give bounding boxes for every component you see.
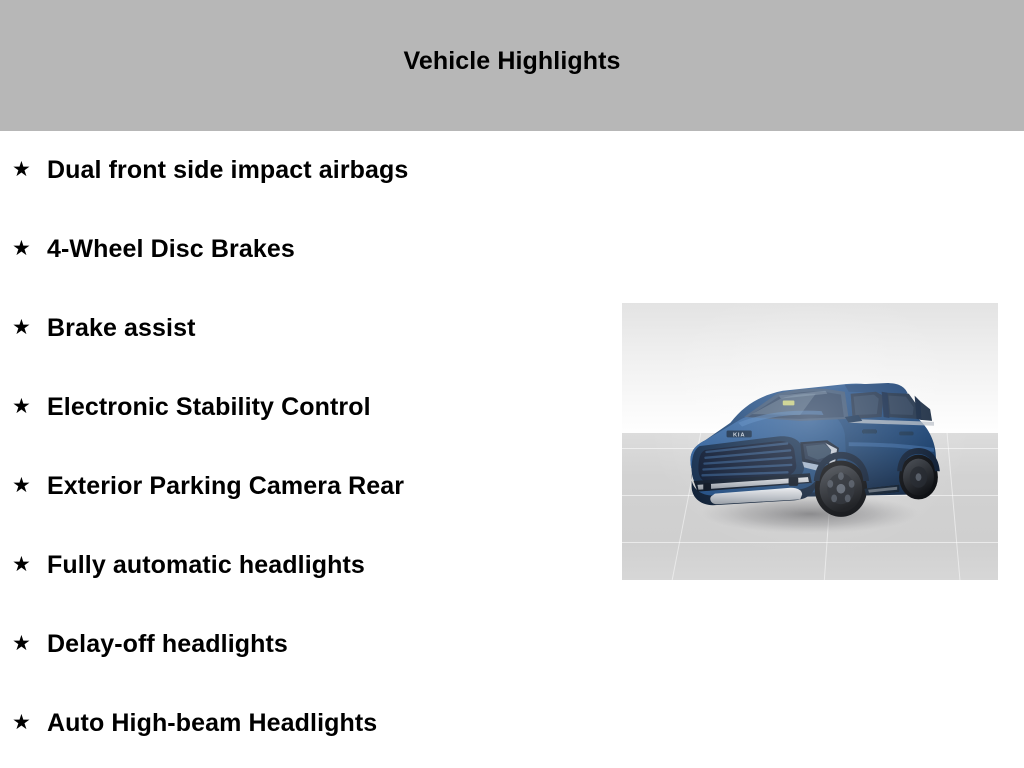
highlight-label: Fully automatic headlights — [47, 551, 365, 580]
vehicle-photo: KIA — [622, 303, 998, 580]
highlight-label: Brake assist — [47, 314, 196, 343]
list-item: ★ 4-Wheel Disc Brakes — [0, 210, 600, 289]
list-item: ★ Fully automatic headlights — [0, 526, 600, 605]
page-title: Vehicle Highlights — [403, 49, 620, 82]
vehicle-highlights-list: ★ Dual front side impact airbags ★ 4-Whe… — [0, 131, 600, 763]
list-item: ★ Auto High-beam Headlights — [0, 684, 600, 763]
star-bullet-icon: ★ — [12, 633, 36, 654]
suv-illustration: KIA — [652, 353, 968, 547]
highlight-label: Dual front side impact airbags — [47, 156, 408, 185]
star-bullet-icon: ★ — [12, 396, 36, 417]
highlight-label: Electronic Stability Control — [47, 393, 371, 422]
list-item: ★ Electronic Stability Control — [0, 368, 600, 447]
list-item: ★ Dual front side impact airbags — [0, 131, 600, 210]
star-bullet-icon: ★ — [12, 475, 36, 496]
highlight-label: Auto High-beam Headlights — [47, 709, 377, 738]
star-bullet-icon: ★ — [12, 317, 36, 338]
list-item: ★ Delay-off headlights — [0, 605, 600, 684]
star-bullet-icon: ★ — [12, 159, 36, 180]
highlight-label: Delay-off headlights — [47, 630, 288, 659]
svg-text:KIA: KIA — [733, 432, 745, 438]
star-bullet-icon: ★ — [12, 238, 36, 259]
highlight-label: Exterior Parking Camera Rear — [47, 472, 404, 501]
star-bullet-icon: ★ — [12, 554, 36, 575]
content-area: ★ Dual front side impact airbags ★ 4-Whe… — [0, 131, 1024, 768]
star-bullet-icon: ★ — [12, 712, 36, 733]
highlight-label: 4-Wheel Disc Brakes — [47, 235, 295, 264]
header-bar: Vehicle Highlights — [0, 0, 1024, 131]
suv-svg: KIA — [652, 353, 968, 547]
list-item: ★ Exterior Parking Camera Rear — [0, 447, 600, 526]
list-item: ★ Brake assist — [0, 289, 600, 368]
